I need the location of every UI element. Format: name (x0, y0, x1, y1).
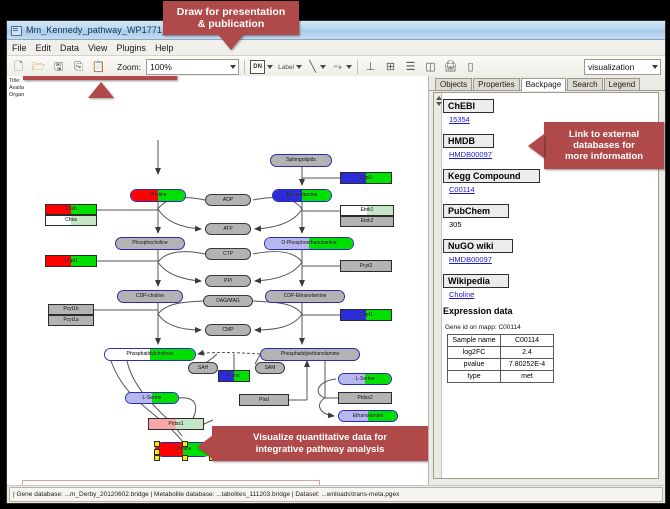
chevron-down-icon (267, 65, 273, 69)
cofactors-ppi[interactable]: PPi (205, 275, 251, 287)
expression-data-table: Sample nameC00114log2FC2.4pvalue7.80252E… (447, 334, 554, 383)
expression-key: log2FC (448, 347, 501, 359)
database-value-wikipedia[interactable]: Choline (449, 290, 656, 299)
expression-value: 7.80252E-4 (501, 359, 554, 371)
node-label: Choline (175, 447, 192, 452)
node-label: Ethanolamine (287, 193, 318, 198)
database-value-kegg-compound[interactable]: C00114 (449, 185, 656, 194)
node-label: Cept1 (359, 313, 372, 318)
tab-search[interactable]: Search (567, 78, 602, 91)
node-label: SAM (265, 366, 276, 371)
metabolites-ethanolamine[interactable]: Ethanolamine (338, 410, 398, 422)
callout-visualize-text: Visualize quantitative data for integrat… (253, 432, 387, 454)
selection-handle[interactable] (154, 455, 160, 461)
metabolites-choline[interactable]: Choline (130, 189, 186, 202)
datanode-tool[interactable]: DN (250, 60, 273, 74)
node-label: CMP (222, 328, 233, 333)
callout-links: Link to external databases for more info… (544, 122, 664, 169)
print-icon[interactable]: 🖨 (443, 60, 458, 75)
callout-visualize: Visualize quantitative data for integrat… (212, 426, 428, 461)
chevron-down-icon (346, 65, 352, 69)
metabolites-o-phosphoethanolamine[interactable]: O-Phosphoethanolamine (264, 237, 354, 250)
node-label: Phosphocholine (132, 241, 168, 246)
tab-legend[interactable]: Legend (604, 78, 641, 91)
chevron-down-icon (230, 65, 236, 69)
pathway-organism-label: Organ (9, 92, 24, 99)
database-header-wikipedia: Wikipedia (443, 274, 509, 288)
node-label: L-Serine (143, 396, 162, 401)
genes-etnk2[interactable]: Etnk2 (340, 216, 394, 227)
cofactors-atp[interactable]: ATP (205, 223, 251, 235)
node-label: Ptdss1 (168, 422, 183, 427)
save-file-icon[interactable]: 🖫 (51, 60, 66, 75)
chevron-down-icon (652, 65, 658, 69)
database-header-chebi: ChEBI (443, 99, 494, 113)
table-row: pvalue7.80252E-4 (448, 359, 554, 371)
copy-icon[interactable]: ⎘ (71, 60, 86, 75)
metabolites-cdp-ethanolamine[interactable]: CDP-Ethanolamine (265, 290, 345, 303)
genes-pemt[interactable]: Pemt (218, 370, 250, 382)
expression-value: met (501, 371, 554, 383)
pathway-available-label: Availa (9, 85, 24, 92)
node-label: CTP (223, 252, 233, 257)
screenshot-root: Mm_Kennedy_pathway_WP1771_45176.gpml Fil… (0, 0, 670, 509)
database-header-kegg-compound: Kegg Compound (443, 169, 540, 183)
pathway-title-label: Title: (9, 78, 24, 85)
genes-cept1[interactable]: Cept1 (340, 309, 392, 321)
database-value-pubchem: 305 (449, 220, 656, 229)
table-row: typemet (448, 371, 554, 383)
open-file-icon[interactable]: 🗁 (31, 60, 46, 75)
selection-handle[interactable] (154, 449, 160, 455)
node-label: ADP (223, 198, 233, 203)
selection-handle[interactable] (154, 441, 160, 447)
node-label: SAH (198, 366, 208, 371)
metabolites-cdp-choline[interactable]: CDP-choline (117, 290, 183, 303)
node-label: Phosphatidylcholines (127, 352, 174, 357)
database-header-nugo-wiki: NuGO wiki (443, 239, 513, 253)
node-label: Ethanolamine (353, 414, 384, 419)
pathway-window-icon (11, 25, 22, 36)
cofactors-ctp[interactable]: CTP (205, 248, 251, 260)
node-label: Sphingolipids (286, 158, 316, 163)
zoom-label: Zoom: (117, 62, 141, 72)
order-icon[interactable]: ▯ (463, 60, 478, 75)
metabolites-sphingolipids[interactable]: Sphingolipids (270, 154, 332, 167)
visualization-value: visualization (588, 62, 634, 72)
cofactors-sah[interactable]: SAH (188, 362, 218, 374)
callout-share: Share on Wikipathways.org (22, 480, 320, 485)
status-bar-field: | Gene database: ...m_Derby_20120602.bri… (9, 487, 663, 502)
toolbar-separator (244, 60, 245, 74)
menu-bar: File Edit Data View Plugins Help (7, 40, 665, 56)
pathway-info-labels: Title: Availa Organ (9, 78, 24, 99)
table-row: log2FC2.4 (448, 347, 554, 359)
selection-handle[interactable] (182, 441, 188, 447)
node-label: Chka (65, 218, 77, 223)
line-tool[interactable]: ╲ (307, 60, 326, 75)
cofactors-cmp[interactable]: CMP (205, 324, 251, 336)
group-icon[interactable]: ⊞ (383, 60, 398, 75)
line-icon: ╲ (307, 60, 318, 75)
expression-value: C00114 (501, 335, 554, 347)
node-label: PPi (224, 279, 232, 284)
node-label: Pcyt1b (63, 307, 78, 312)
callout-links-text: Link to external databases for more info… (565, 129, 643, 163)
pathway-canvas[interactable]: Title: Availa Organ (7, 76, 429, 485)
menu-item-view[interactable]: View (88, 43, 107, 53)
genes-pcyt1a[interactable]: Pcyt1a (48, 315, 94, 326)
menu-item-edit[interactable]: Edit (36, 43, 52, 53)
genes-chka[interactable]: Chka (45, 215, 97, 226)
metabolites-l-serine[interactable]: L-Serine (338, 373, 392, 385)
menu-item-file[interactable]: File (12, 43, 27, 53)
genes-sgpl1[interactable]: Sgpl1 (340, 172, 392, 184)
metabolites-phosphocholine[interactable]: Phosphocholine (115, 237, 185, 250)
stack-icon[interactable]: ☰ (403, 60, 418, 75)
callout-draw-text: Draw for presentation & publication (177, 6, 286, 31)
menu-item-plugins[interactable]: Plugins (116, 43, 146, 53)
tab-objects[interactable]: Objects (435, 78, 472, 91)
panel-scroll-strip[interactable] (434, 93, 442, 478)
selection-handle[interactable] (182, 455, 188, 461)
visualization-combo[interactable]: visualization (584, 59, 661, 75)
node-label: CDP-choline (136, 294, 164, 299)
paste-icon[interactable]: 📋 (91, 60, 106, 75)
genes-ptdss2[interactable]: Ptdss2 (338, 392, 392, 404)
node-label: Etnk2 (361, 219, 374, 224)
tab-properties[interactable]: Properties (473, 78, 519, 91)
pathway-nodes: SphingolipidsCholineEthanolaminePhosphoc… (7, 76, 428, 485)
table-row: Sample nameC00114 (448, 335, 554, 347)
node-label: Chpt1 (64, 259, 77, 264)
database-header-hmdb: HMDB (443, 134, 494, 148)
node-label: Phosphatidylethanolamine (281, 352, 340, 357)
pathvisio-window: Mm_Kennedy_pathway_WP1771_45176.gpml Fil… (6, 20, 666, 504)
genes-ptdss1[interactable]: Ptdss1 (148, 418, 204, 430)
metabolites-phosphatidylethanolamine[interactable]: Phosphatidylethanolamine (260, 348, 360, 361)
genes-pisd[interactable]: Pisd (239, 394, 289, 406)
database-value-nugo-wiki[interactable]: HMDB00097 (449, 255, 656, 264)
chevron-down-icon (320, 65, 326, 69)
cofactors-sam[interactable]: SAM (255, 362, 285, 374)
genes-etnk1[interactable]: Etnk1 (340, 205, 394, 216)
interaction-tool[interactable]: ⤳ (331, 60, 352, 75)
metabolites-phosphatidylcholines[interactable]: Phosphatidylcholines (104, 348, 196, 361)
node-label: Etnk1 (361, 208, 374, 213)
genes-chkb[interactable]: Chkb (45, 204, 97, 215)
node-label: Chkb (65, 207, 77, 212)
metabolites-ethanolamine[interactable]: Ethanolamine (272, 189, 332, 202)
node-label: L-Serine (356, 377, 375, 382)
side-panel-tabs: ObjectsPropertiesBackpageSearchLegend (429, 76, 665, 91)
interaction-icon: ⤳ (331, 60, 344, 75)
cofactors-adp[interactable]: ADP (205, 194, 251, 206)
links-callout-arrow (528, 134, 544, 158)
plugins-callout-arrow (88, 82, 114, 98)
database-header-pubchem: PubChem (443, 204, 509, 218)
expression-value: 2.4 (501, 347, 554, 359)
expression-key: type (448, 371, 501, 383)
new-file-icon[interactable]: 🗋 (11, 60, 26, 75)
status-bar: | Gene database: ...m_Derby_20120602.bri… (7, 485, 665, 503)
callout-plugins: Easily install plugins for added feature… (23, 76, 177, 80)
callout-draw: Draw for presentation & publication (163, 1, 299, 35)
chevron-down-icon (296, 65, 302, 69)
label-icon: Label (278, 64, 294, 71)
window-title-bar: Mm_Kennedy_pathway_WP1771_45176.gpml (7, 21, 665, 40)
draw-callout-arrow (218, 34, 244, 50)
toolbar-separator (357, 60, 358, 74)
node-label: Ptdss2 (357, 396, 372, 401)
gene-id-on-mapp: Gene id on mapp: C00114 (445, 324, 656, 331)
datanode-icon: DN (250, 60, 265, 74)
genes-pcyt2[interactable]: Pcyt2 (340, 260, 392, 272)
expression-key: pvalue (448, 359, 501, 371)
node-label: ATP (223, 227, 232, 232)
node-label: O-Phosphoethanolamine (281, 241, 336, 246)
node-label: Sgpl1 (360, 176, 373, 181)
align-icon[interactable]: ⊥ (363, 60, 378, 75)
node-label: Pcyt2 (360, 264, 373, 269)
expression-data-heading: Expression data (443, 306, 656, 316)
cofactors-dag-mag[interactable]: DAG/MAG (203, 295, 253, 307)
distribute-icon[interactable]: ◫ (423, 60, 438, 75)
node-label: CDP-Ethanolamine (284, 294, 327, 299)
node-label: Choline (150, 193, 167, 198)
status-bar-text: | Gene database: ...m_Derby_20120602.bri… (13, 491, 399, 498)
menu-item-data[interactable]: Data (60, 43, 79, 53)
label-tool[interactable]: Label (278, 64, 302, 71)
metabolites-l-serine[interactable]: L-Serine (125, 392, 179, 404)
expression-key: Sample name (448, 335, 501, 347)
node-label: DAG/MAG (216, 299, 240, 304)
node-label: Pisd (259, 398, 269, 403)
menu-item-help[interactable]: Help (155, 43, 174, 53)
genes-pcyt1b[interactable]: Pcyt1b (48, 304, 94, 315)
node-label: Pemt (228, 374, 240, 379)
visualize-callout-arrow (197, 435, 213, 459)
zoom-combo[interactable]: 100% (146, 59, 239, 75)
zoom-value: 100% (150, 62, 172, 72)
tab-backpage[interactable]: Backpage (521, 78, 567, 92)
node-label: Pcyt1a (63, 318, 78, 323)
genes-chpt1[interactable]: Chpt1 (45, 255, 97, 267)
